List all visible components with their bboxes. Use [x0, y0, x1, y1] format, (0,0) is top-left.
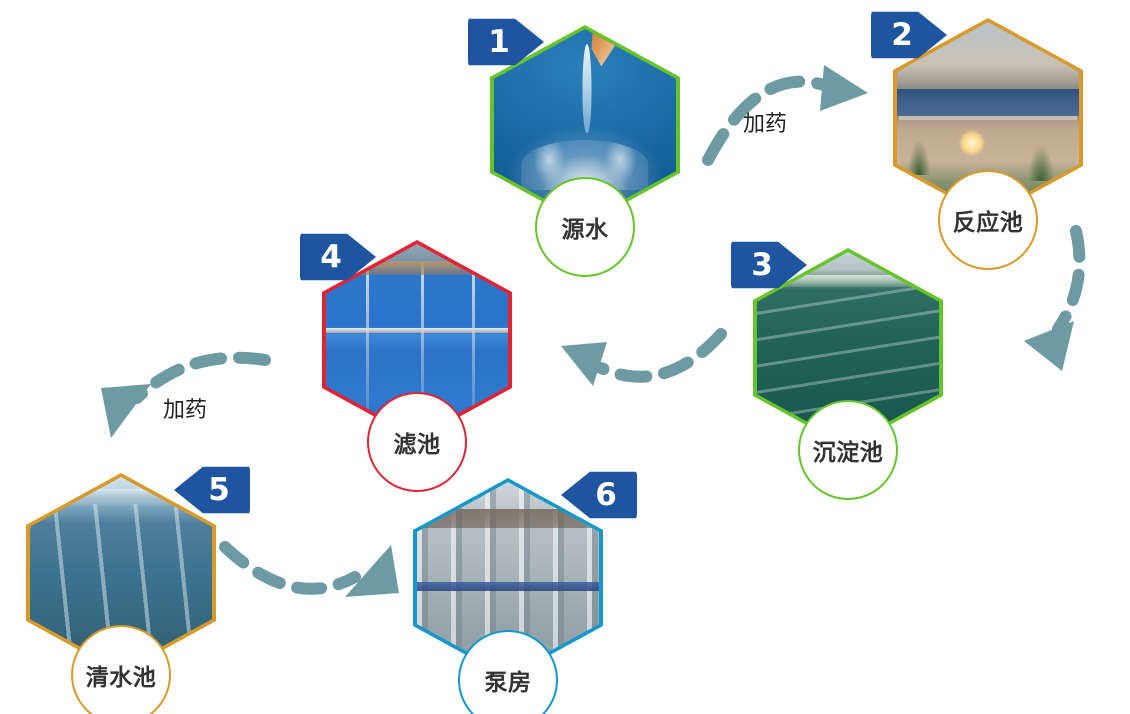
ceiling-beam: [417, 509, 599, 528]
step-node-6[interactable]: 6 泵房: [413, 478, 603, 688]
arrow-label-4-to-5: 加药: [163, 392, 207, 424]
step-label-6: 泵房: [485, 663, 532, 697]
arrow-label-1-to-2: 加药: [743, 106, 787, 138]
step-label-circle-4: 滤池: [367, 392, 467, 492]
step-number-5: 5: [208, 475, 230, 506]
step-label-2: 反应池: [953, 203, 1024, 237]
dropper-icon: [588, 29, 628, 69]
arrow-5-to-6: [215, 535, 415, 625]
step-label-circle-2: 反应池: [938, 170, 1038, 270]
arrow-head: [345, 545, 399, 597]
step-label-circle-1: 源水: [535, 177, 635, 277]
step-number-4: 4: [320, 242, 342, 273]
arrow-3-to-4: [545, 320, 775, 410]
step-label-4: 滤池: [394, 425, 441, 459]
step-label-1: 源水: [562, 210, 609, 244]
step-label-3: 沉淀池: [813, 433, 884, 467]
arrow-path: [225, 547, 355, 589]
vegetation-right: [1028, 145, 1054, 181]
railing-post-right: [472, 261, 475, 436]
step-node-4[interactable]: 4 滤池: [322, 240, 512, 450]
arrow-path: [1058, 231, 1079, 329]
step-node-2[interactable]: 2 反应池: [893, 18, 1083, 228]
step-label-circle-5: 清水池: [71, 625, 171, 714]
arrow-4-to-5: [85, 330, 315, 450]
arrow-head: [561, 342, 607, 386]
arrow-head: [101, 384, 151, 438]
step-number-3: 3: [751, 250, 773, 281]
step-number-1: 1: [488, 27, 510, 58]
step-number-2: 2: [891, 20, 913, 51]
arrow-1-to-2: [700, 55, 880, 165]
step-label-5: 清水池: [86, 658, 157, 692]
step-node-3[interactable]: 3 沉淀池: [753, 248, 943, 458]
step-number-6: 6: [595, 480, 617, 511]
railing-post-left: [366, 261, 369, 436]
step-node-5[interactable]: 5 清水池: [26, 473, 216, 683]
arrow-path: [601, 334, 721, 377]
arrow-head: [820, 65, 868, 111]
process-flow-diagram: 加药 加药 1: [0, 0, 1130, 714]
step-label-circle-3: 沉淀池: [798, 400, 898, 500]
vegetation-left: [908, 141, 930, 175]
step-node-1[interactable]: 1 源水: [490, 25, 680, 235]
arrow-head: [1024, 321, 1074, 371]
